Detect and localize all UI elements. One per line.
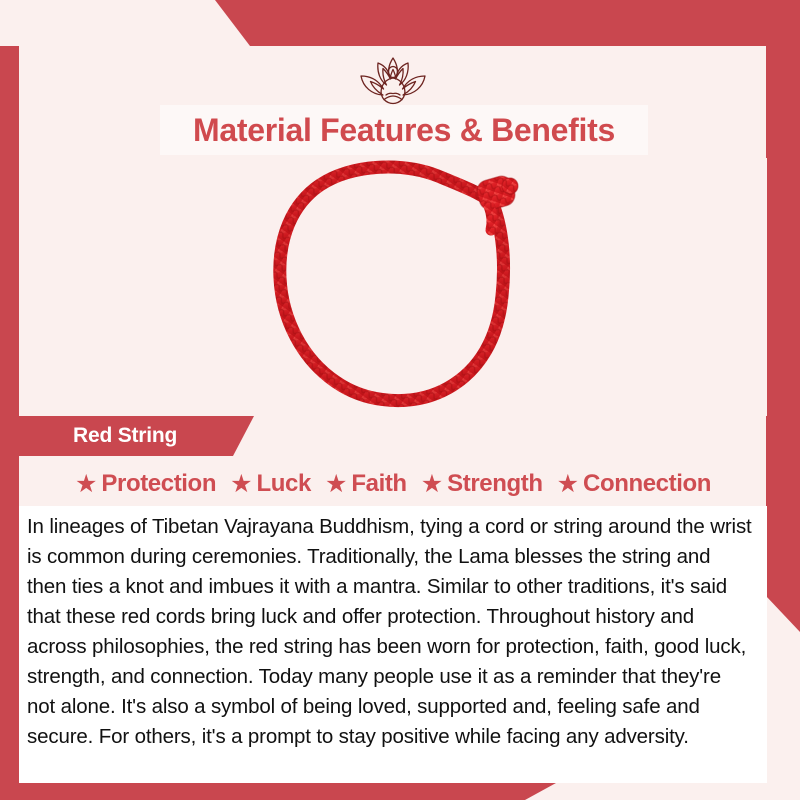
page-title: Material Features & Benefits: [193, 112, 615, 149]
page-title-box: Material Features & Benefits: [160, 105, 648, 155]
infographic-page: BUDDHA STONES Material Features & Benefi…: [0, 0, 800, 800]
benefit-item-connection: ★ Connection: [557, 470, 711, 498]
star-icon: ★: [325, 472, 347, 497]
bottom-decorative-band: [0, 783, 800, 800]
benefit-label: Strength: [447, 470, 542, 498]
benefit-item-faith: ★ Faith: [325, 470, 407, 498]
right-decorative-band: [766, 0, 800, 632]
benefit-label: Protection: [101, 470, 216, 498]
star-icon: ★: [75, 472, 97, 497]
benefit-item-strength: ★ Strength: [421, 470, 543, 498]
benefit-label: Connection: [583, 470, 711, 498]
star-icon: ★: [230, 472, 252, 497]
star-icon: ★: [421, 472, 443, 497]
description-text: In lineages of Tibetan Vajrayana Buddhis…: [27, 512, 753, 752]
red-string-bracelet-image: [256, 156, 556, 418]
benefit-item-luck: ★ Luck: [230, 470, 311, 498]
description-card: In lineages of Tibetan Vajrayana Buddhis…: [19, 506, 767, 783]
material-tag-banner: Red String: [19, 416, 254, 456]
top-decorative-band: [0, 0, 800, 46]
bracelet-knot: [475, 174, 518, 230]
product-image-stage: [19, 158, 767, 416]
benefit-item-protection: ★ Protection: [75, 470, 216, 498]
star-icon: ★: [557, 472, 579, 497]
benefit-label: Faith: [351, 470, 406, 498]
benefits-row: ★ Protection ★ Luck ★ Faith ★ Strength ★…: [19, 463, 767, 505]
material-tag-label: Red String: [73, 424, 177, 448]
benefit-label: Luck: [257, 470, 311, 498]
lotus-meditation-icon: [339, 52, 447, 110]
left-decorative-band: [0, 46, 19, 783]
